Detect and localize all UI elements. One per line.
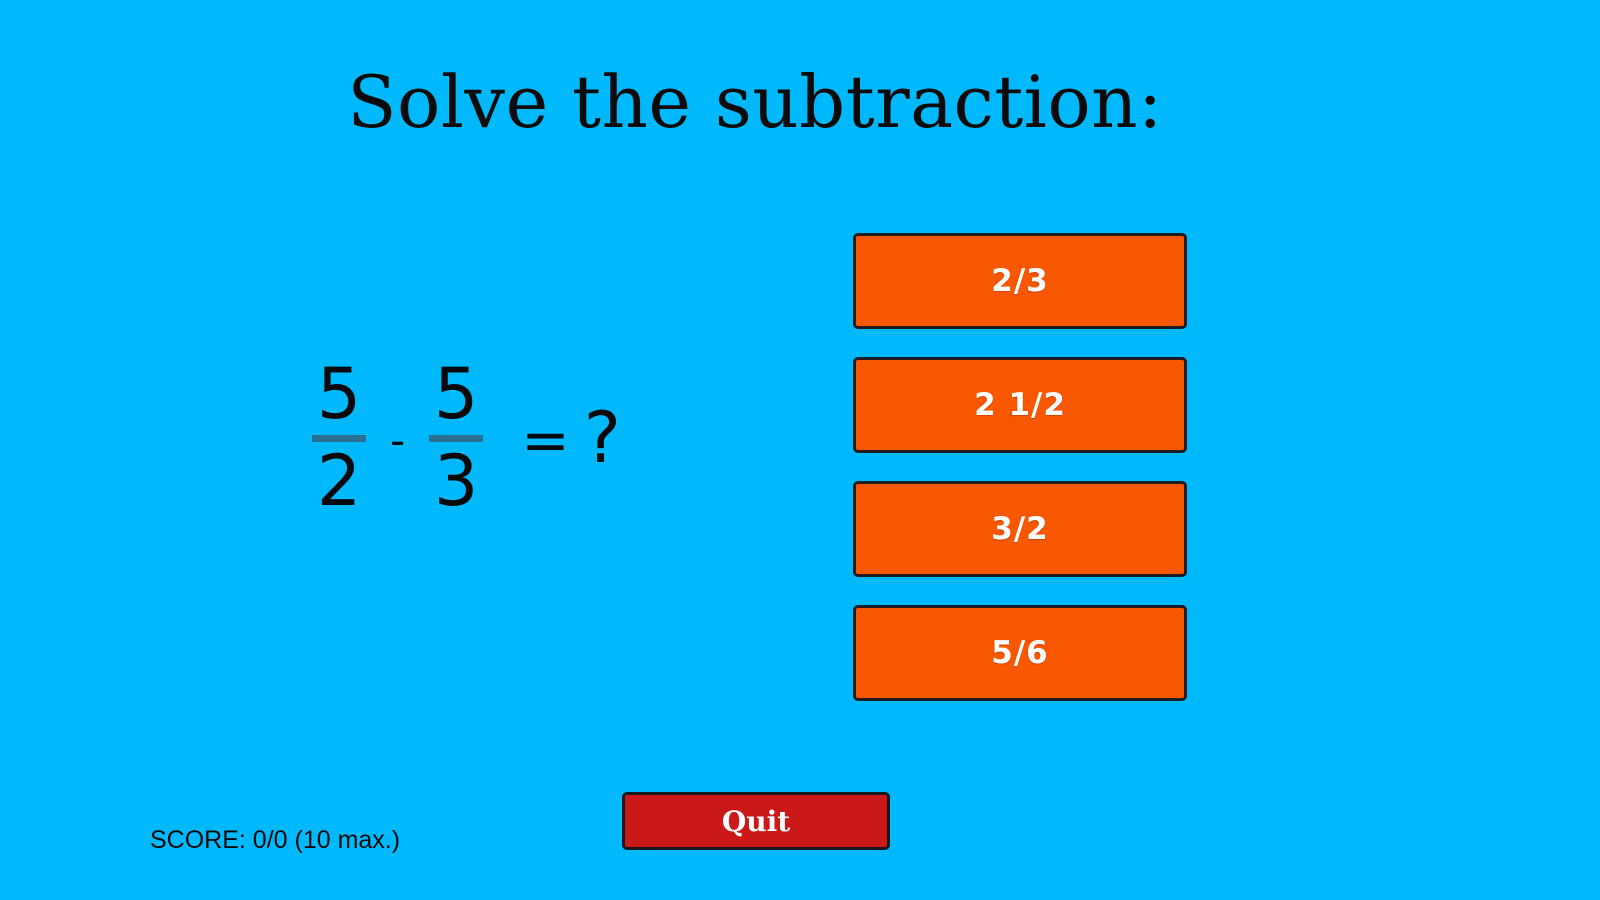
fraction-right: 5 3 [417, 360, 495, 515]
equation-display: 5 2 - 5 3 = ? [300, 355, 621, 520]
fraction-left-numerator: 5 [317, 360, 362, 429]
fraction-right-denominator: 3 [434, 447, 479, 516]
fraction-left: 5 2 [300, 360, 378, 515]
fraction-right-numerator: 5 [434, 360, 479, 429]
answer-options-list: 2/3 2 1/2 3/2 5/6 [853, 233, 1187, 701]
answer-option-1[interactable]: 2/3 [853, 233, 1187, 329]
answer-option-4[interactable]: 5/6 [853, 605, 1187, 701]
fraction-left-denominator: 2 [317, 447, 362, 516]
equals-operator: = [521, 411, 570, 469]
quit-button[interactable]: Quit [622, 792, 890, 850]
game-screen: Solve the subtraction: 5 2 - 5 3 = ? 2/3… [0, 0, 1600, 900]
answer-option-2[interactable]: 2 1/2 [853, 357, 1187, 453]
answer-option-3[interactable]: 3/2 [853, 481, 1187, 577]
minus-operator: - [390, 420, 405, 462]
page-title: Solve the subtraction: [0, 66, 1510, 138]
score-label: SCORE: 0/0 (10 max.) [150, 826, 400, 855]
answer-placeholder: ? [584, 403, 621, 473]
